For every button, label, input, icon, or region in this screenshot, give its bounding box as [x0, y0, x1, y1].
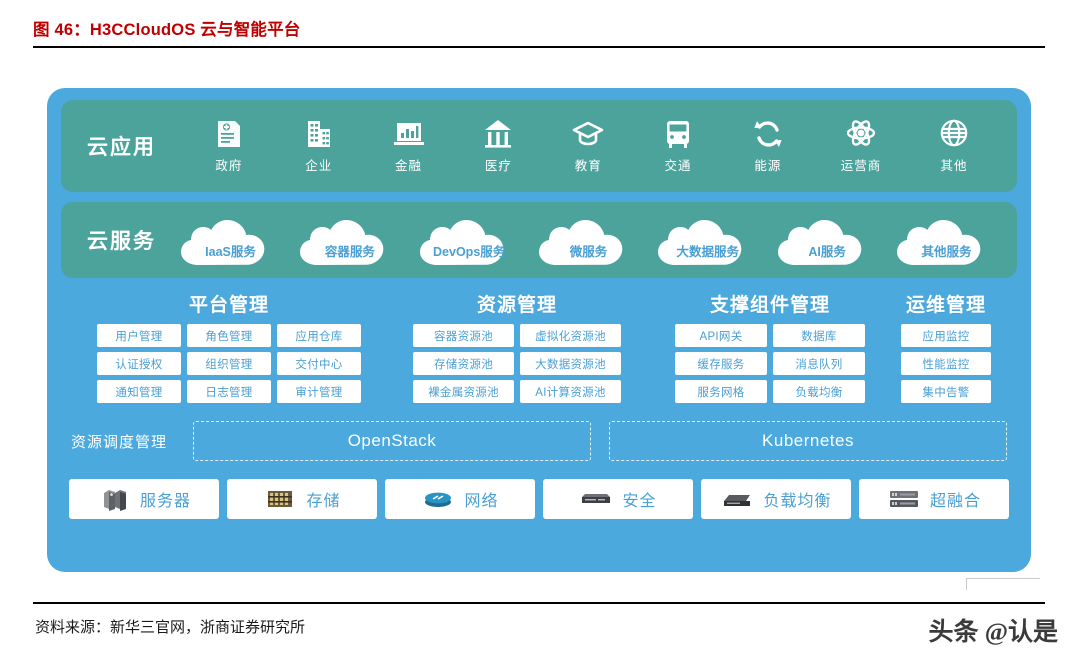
cloud-applications-items: 政府 企业 [178, 118, 999, 174]
group-column: 数据库 消息队列 负载均衡 [773, 324, 865, 403]
graduation-cap-icon [571, 118, 605, 150]
app-label: 教育 [575, 155, 602, 174]
group-column: 容器资源池 存储资源池 裸金属资源池 [413, 324, 514, 403]
group-column: 用户管理 认证授权 通知管理 [97, 324, 181, 403]
group-column: API网关 缓存服务 服务网格 [675, 324, 767, 403]
group-grid: 容器资源池 存储资源池 裸金属资源池 虚拟化资源池 大数据资源池 AI计算资源池 [413, 324, 621, 403]
server-tower-icon [97, 487, 131, 511]
management-row: 平台管理 用户管理 认证授权 通知管理 角色管理 组织管理 日志管理 应用仓库 … [61, 290, 1017, 403]
mgmt-cell[interactable]: 消息队列 [773, 352, 865, 375]
hospital-icon [481, 118, 515, 150]
infra-label: 网络 [464, 487, 498, 511]
mgmt-cell[interactable]: API网关 [675, 324, 767, 347]
app-label: 能源 [754, 155, 781, 174]
cloud-service-container[interactable]: 容器服务 [293, 211, 406, 269]
mgmt-cell[interactable]: 性能监控 [901, 352, 991, 375]
management-group-resource: 资源管理 容器资源池 存储资源池 裸金属资源池 虚拟化资源池 大数据资源池 AI… [413, 290, 621, 403]
cloud-service-label: AI服务 [771, 241, 884, 260]
infra-item-hyperconverged[interactable]: 超融合 [859, 479, 1009, 519]
infra-item-storage[interactable]: 存储 [227, 479, 377, 519]
mgmt-cell[interactable]: 虚拟化资源池 [520, 324, 621, 347]
cloud-services-band: 云服务 IaaS服务 容器服务 DevOps服务 微服务 大数据服务 [61, 202, 1017, 278]
infrastructure-row: 服务器 存储 网络 [61, 479, 1017, 519]
infra-label: 负载均衡 [763, 487, 831, 511]
cloud-applications-label: 云应用 [87, 131, 156, 161]
firewall-appliance-icon [579, 487, 613, 511]
cloud-service-microservice[interactable]: 微服务 [532, 211, 645, 269]
infra-label: 安全 [622, 487, 656, 511]
watermark: 头条 @认是 [928, 612, 1058, 648]
app-item-finance[interactable]: 金融 [392, 118, 426, 174]
cloud-services-items: IaaS服务 容器服务 DevOps服务 微服务 大数据服务 AI服务 [174, 211, 1003, 269]
footer-divider [33, 602, 1045, 604]
source-note: 资料来源：新华三官网，浙商证券研究所 [35, 616, 305, 637]
management-group-platform: 平台管理 用户管理 认证授权 通知管理 角色管理 组织管理 日志管理 应用仓库 … [97, 290, 361, 403]
mgmt-cell[interactable]: 日志管理 [187, 380, 271, 403]
cloud-service-devops[interactable]: DevOps服务 [413, 211, 526, 269]
group-column: 虚拟化资源池 大数据资源池 AI计算资源池 [520, 324, 621, 403]
infra-label: 存储 [306, 487, 340, 511]
mgmt-cell[interactable]: 应用监控 [901, 324, 991, 347]
hyperconverged-chassis-icon [887, 487, 921, 511]
resource-scheduling-row: 资源调度管理 OpenStack Kubernetes [61, 415, 1017, 467]
group-column: 应用监控 性能监控 集中告警 [901, 324, 991, 403]
cloud-services-label: 云服务 [87, 225, 156, 255]
app-item-other[interactable]: 其他 [937, 118, 971, 174]
mgmt-cell[interactable]: 应用仓库 [277, 324, 361, 347]
infra-label: 服务器 [140, 487, 191, 511]
bus-icon [661, 118, 695, 150]
resource-scheduling-label: 资源调度管理 [71, 431, 167, 452]
architecture-diagram: 云应用 政府 [47, 88, 1031, 572]
refresh-cycle-icon [751, 118, 785, 150]
app-label: 其他 [941, 155, 968, 174]
scan-artifact-line [966, 578, 1040, 579]
infra-item-load-balance[interactable]: 负载均衡 [701, 479, 851, 519]
app-label: 交通 [665, 155, 692, 174]
cloud-service-iaas[interactable]: IaaS服务 [174, 211, 287, 269]
mgmt-cell[interactable]: 角色管理 [187, 324, 271, 347]
cloud-service-label: 容器服务 [293, 241, 406, 260]
app-item-medical[interactable]: 医疗 [481, 118, 515, 174]
mgmt-cell[interactable]: 容器资源池 [413, 324, 514, 347]
group-title: 平台管理 [189, 290, 269, 317]
globe-icon [937, 118, 971, 150]
management-group-ops: 运维管理 应用监控 性能监控 集中告警 [901, 290, 991, 403]
kubernetes-box[interactable]: Kubernetes [609, 421, 1007, 461]
group-title: 资源管理 [477, 290, 557, 317]
cloud-service-ai[interactable]: AI服务 [771, 211, 884, 269]
cloud-service-label: 大数据服务 [651, 241, 764, 260]
infra-item-security[interactable]: 安全 [543, 479, 693, 519]
group-grid: API网关 缓存服务 服务网格 数据库 消息队列 负载均衡 [675, 324, 865, 403]
mgmt-cell[interactable]: 通知管理 [97, 380, 181, 403]
app-label: 金融 [395, 155, 422, 174]
mgmt-cell[interactable]: 集中告警 [901, 380, 991, 403]
group-title: 运维管理 [906, 290, 986, 317]
app-label: 医疗 [485, 155, 512, 174]
cloud-service-label: DevOps服务 [413, 241, 526, 260]
mgmt-cell[interactable]: 缓存服务 [675, 352, 767, 375]
group-grid: 应用监控 性能监控 集中告警 [901, 324, 991, 403]
mgmt-cell[interactable]: 组织管理 [187, 352, 271, 375]
router-icon [421, 487, 455, 511]
load-balancer-appliance-icon [720, 487, 754, 511]
group-column: 角色管理 组织管理 日志管理 [187, 324, 271, 403]
app-item-enterprise[interactable]: 企业 [302, 118, 336, 174]
app-label: 企业 [305, 155, 332, 174]
management-group-support: 支撑组件管理 API网关 缓存服务 服务网格 数据库 消息队列 负载均衡 [675, 290, 865, 403]
infra-item-server[interactable]: 服务器 [69, 479, 219, 519]
mgmt-cell[interactable]: 裸金属资源池 [413, 380, 514, 403]
office-building-icon [302, 118, 336, 150]
mgmt-cell[interactable]: 认证授权 [97, 352, 181, 375]
app-item-operator[interactable]: 运营商 [841, 118, 882, 174]
cloud-service-label: 微服务 [532, 241, 645, 260]
cloud-applications-band: 云应用 政府 [61, 100, 1017, 192]
app-item-government[interactable]: 政府 [212, 118, 246, 174]
scan-artifact-line [966, 578, 967, 590]
app-item-transportation[interactable]: 交通 [661, 118, 695, 174]
mgmt-cell[interactable]: 交付中心 [277, 352, 361, 375]
atom-icon [844, 118, 878, 150]
title-divider [33, 46, 1045, 48]
mgmt-cell[interactable]: AI计算资源池 [520, 380, 621, 403]
cloud-service-label: IaaS服务 [174, 241, 287, 260]
page-title: 图 46：H3CCloudOS 云与智能平台 [33, 16, 301, 40]
mgmt-cell[interactable]: 服务网格 [675, 380, 767, 403]
group-grid: 用户管理 认证授权 通知管理 角色管理 组织管理 日志管理 应用仓库 交付中心 … [97, 324, 361, 403]
app-item-education[interactable]: 教育 [571, 118, 605, 174]
storage-array-icon [263, 487, 297, 511]
mgmt-cell[interactable]: 负载均衡 [773, 380, 865, 403]
mgmt-cell[interactable]: 大数据资源池 [520, 352, 621, 375]
mgmt-cell[interactable]: 用户管理 [97, 324, 181, 347]
mgmt-cell[interactable]: 数据库 [773, 324, 865, 347]
mgmt-cell[interactable]: 审计管理 [277, 380, 361, 403]
government-certificate-icon [212, 118, 246, 150]
group-title: 支撑组件管理 [710, 290, 830, 317]
group-column: 应用仓库 交付中心 审计管理 [277, 324, 361, 403]
mgmt-cell[interactable]: 存储资源池 [413, 352, 514, 375]
app-label: 政府 [215, 155, 242, 174]
infra-label: 超融合 [930, 487, 981, 511]
infra-item-network[interactable]: 网络 [385, 479, 535, 519]
laptop-chart-icon [392, 118, 426, 150]
cloud-service-bigdata[interactable]: 大数据服务 [651, 211, 764, 269]
app-label: 运营商 [841, 155, 882, 174]
app-item-energy[interactable]: 能源 [751, 118, 785, 174]
openstack-box[interactable]: OpenStack [193, 421, 591, 461]
cloud-service-label: 其他服务 [890, 241, 1003, 260]
cloud-service-other[interactable]: 其他服务 [890, 211, 1003, 269]
